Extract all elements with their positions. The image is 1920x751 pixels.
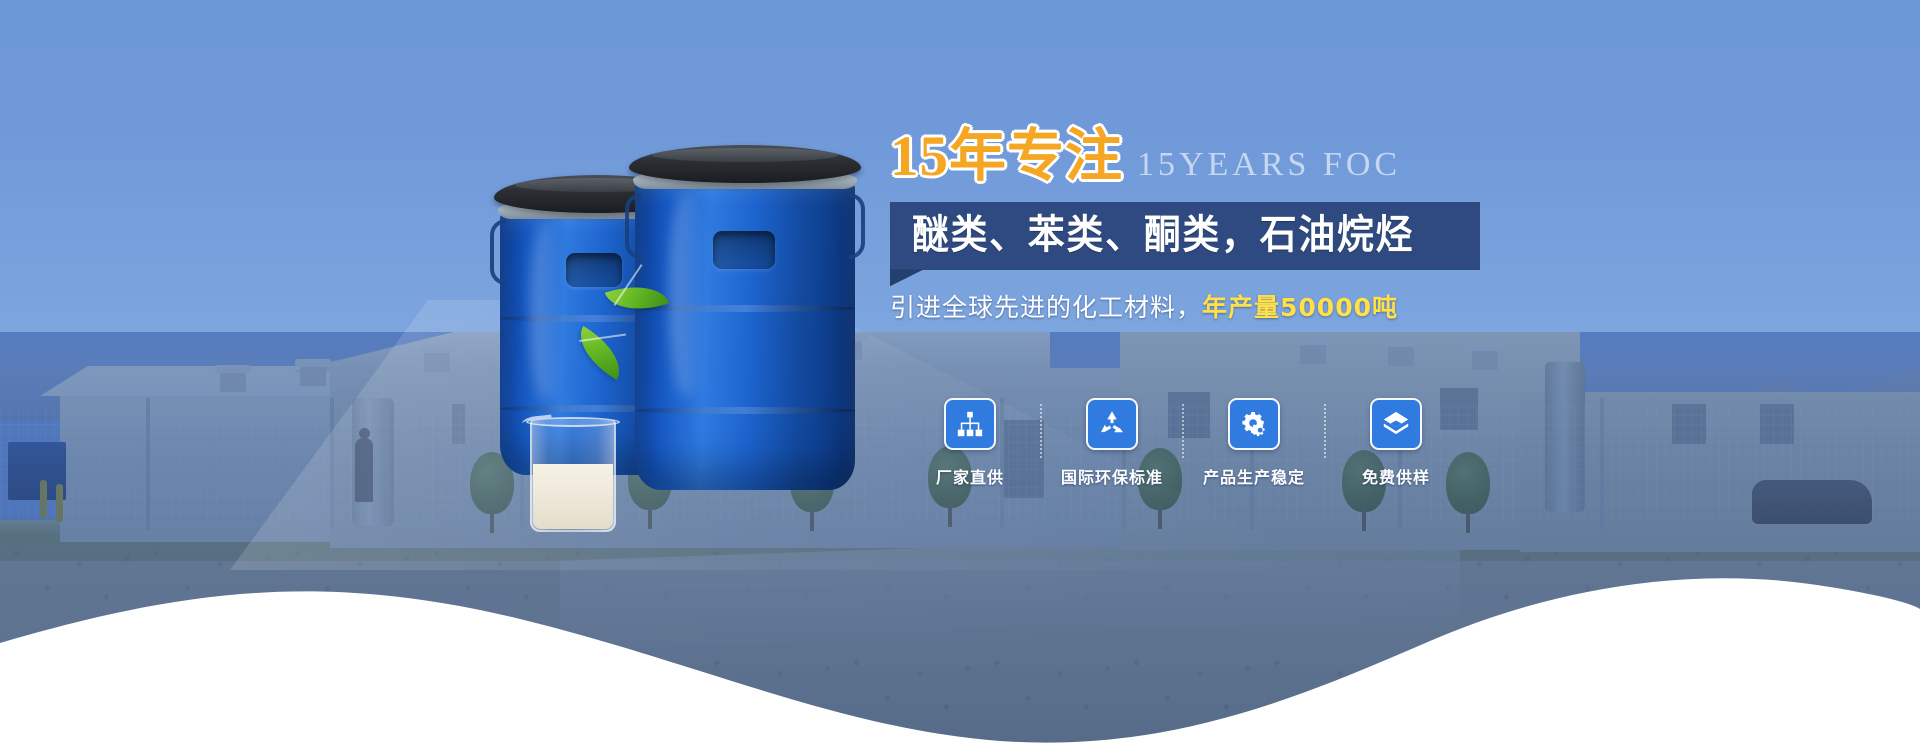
main-title-banner: 醚类、苯类、酮类，石油烷烃 (890, 202, 1480, 270)
org-chart-icon (944, 398, 996, 450)
subtitle-prefix: 引进全球先进的化工材料， (890, 293, 1202, 322)
subtitle-line: 引进全球先进的化工材料，年产量50000吨 (890, 288, 1530, 324)
feature-label: 免费供样 (1326, 464, 1466, 488)
headline-row: 15年专注 15YEARS FOC (890, 128, 1530, 196)
headline-chinese: 15年专注 (890, 128, 1123, 185)
feature-item-eco-standard[interactable]: 国际环保标准 (1042, 398, 1182, 488)
white-wave-divider (0, 491, 1920, 751)
main-title-text: 醚类、苯类、酮类，石油烷烃 (912, 214, 1414, 257)
feature-item-factory-direct[interactable]: 厂家直供 (900, 398, 1040, 488)
open-box-icon (1370, 398, 1422, 450)
feature-label: 产品生产稳定 (1184, 464, 1324, 488)
subtitle-highlight: 年产量50000吨 (1202, 293, 1398, 322)
feature-item-free-sample[interactable]: 免费供样 (1326, 398, 1466, 488)
feature-label: 国际环保标准 (1042, 464, 1182, 488)
feature-label: 厂家直供 (900, 464, 1040, 488)
feature-list: 厂家直供 国际环保标准 (900, 398, 1466, 488)
hero-banner: 15年专注 15YEARS FOC 醚类、苯类、酮类，石油烷烃 引进全球先进的化… (0, 0, 1920, 751)
gears-icon (1228, 398, 1280, 450)
banner-tail-triangle (890, 269, 924, 286)
recycle-icon (1086, 398, 1138, 450)
headline-block: 15年专注 15YEARS FOC 醚类、苯类、酮类，石油烷烃 引进全球先进的化… (890, 128, 1530, 324)
headline-english: 15YEARS FOC (1137, 146, 1401, 184)
feature-item-stable-production[interactable]: 产品生产稳定 (1184, 398, 1324, 488)
